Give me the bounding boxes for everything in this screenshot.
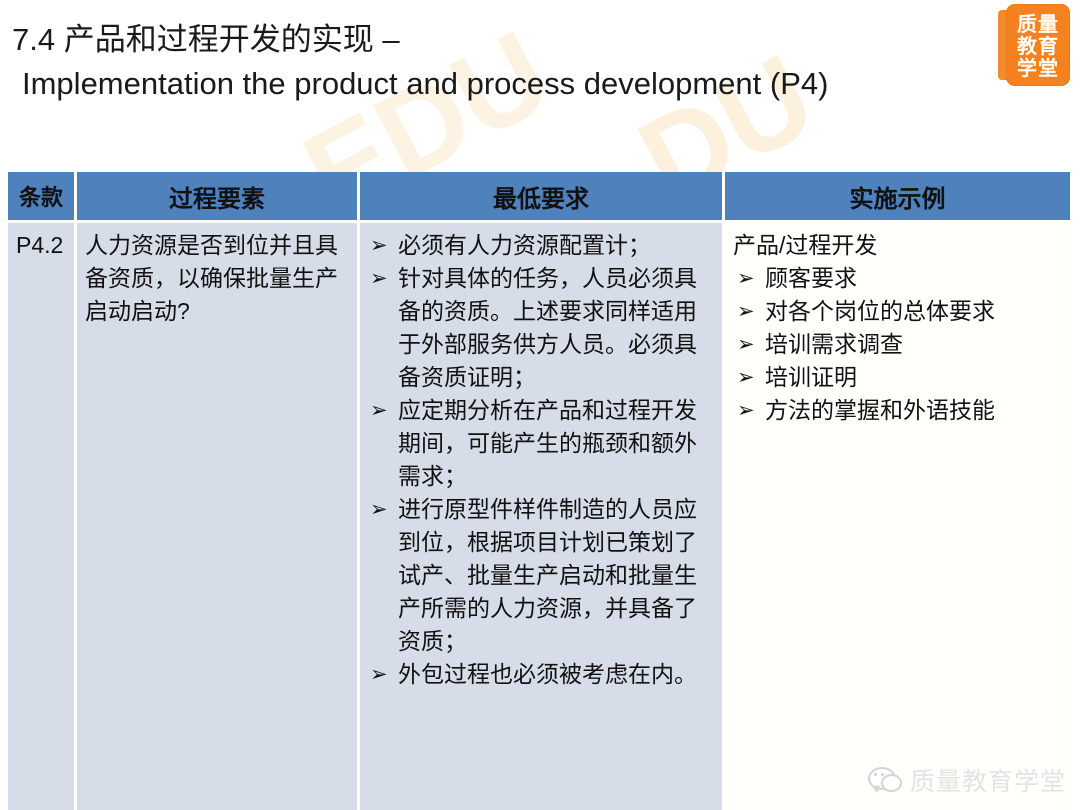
list-item: ➢ 培训需求调查 xyxy=(733,328,1064,361)
arrow-bullet-icon: ➢ xyxy=(370,493,392,526)
arrow-bullet-icon: ➢ xyxy=(737,328,759,361)
list-item: ➢ 必须有人力资源配置计； xyxy=(368,229,716,262)
footer-account-mark: 质量教育学堂 xyxy=(868,762,1066,798)
table-header-row: 条款 过程要素 最低要求 实施示例 xyxy=(8,172,1070,223)
list-item: ➢ 进行原型件样件制造的人员应到位，根据项目计划已策划了试产、批量生产启动和批量… xyxy=(368,493,716,658)
list-item: ➢ 应定期分析在产品和过程开发期间，可能产生的瓶颈和额外需求； xyxy=(368,394,716,493)
list-item-label: 培训需求调查 xyxy=(765,328,1064,361)
list-item-label: 针对具体的任务，人员必须具备的资质。上述要求同样适用于外部服务供方人员。必须具备… xyxy=(398,262,716,394)
table-row: P4.2 人力资源是否到位并且具备资质，以确保批量生产启动启动? ➢ 必须有人力… xyxy=(8,223,1070,810)
footer-account-name: 质量教育学堂 xyxy=(910,762,1066,798)
list-item-label: 必须有人力资源配置计； xyxy=(398,229,716,262)
list-item-label: 外包过程也必须被考虑在内。 xyxy=(398,658,716,691)
table-header-element: 过程要素 xyxy=(77,172,360,223)
list-item-label: 应定期分析在产品和过程开发期间，可能产生的瓶颈和额外需求； xyxy=(398,394,716,493)
arrow-bullet-icon: ➢ xyxy=(737,394,759,427)
page-title-line-1: 7.4 产品和过程开发的实现 – xyxy=(12,18,1068,62)
list-item-label: 培训证明 xyxy=(765,361,1064,394)
implementation-examples-list: ➢ 顾客要求 ➢ 对各个岗位的总体要求 ➢ 培训需求调查 ➢ xyxy=(733,262,1064,427)
list-item: ➢ 方法的掌握和外语技能 xyxy=(733,394,1064,427)
list-item-label: 方法的掌握和外语技能 xyxy=(765,394,1064,427)
arrow-bullet-icon: ➢ xyxy=(370,262,392,295)
table-header-clause: 条款 xyxy=(8,172,77,223)
example-heading: 产品/过程开发 xyxy=(733,229,1064,262)
arrow-bullet-icon: ➢ xyxy=(737,361,759,394)
slide-canvas: EDU DU ty-EDU ty-EDU 7.4 产品和过程开发的实现 – Im… xyxy=(0,0,1080,810)
wechat-icon xyxy=(868,766,902,794)
list-item: ➢ 培训证明 xyxy=(733,361,1064,394)
cell-process-element: 人力资源是否到位并且具备资质，以确保批量生产启动启动? xyxy=(77,223,360,810)
wechat-bubble-small xyxy=(881,774,902,792)
arrow-bullet-icon: ➢ xyxy=(737,262,759,295)
page-title: 7.4 产品和过程开发的实现 – Implementation the prod… xyxy=(12,18,1068,106)
list-item: ➢ 对各个岗位的总体要求 xyxy=(733,295,1064,328)
requirements-table: 条款 过程要素 最低要求 实施示例 P4.2 人力资源是否到位并且具备资质，以确… xyxy=(8,172,1070,810)
list-item: ➢ 针对具体的任务，人员必须具备的资质。上述要求同样适用于外部服务供方人员。必须… xyxy=(368,262,716,394)
arrow-bullet-icon: ➢ xyxy=(370,229,392,262)
wechat-dot-1 xyxy=(874,773,877,776)
list-item-label: 进行原型件样件制造的人员应到位，根据项目计划已策划了试产、批量生产启动和批量生产… xyxy=(398,493,716,658)
table-header-minimum: 最低要求 xyxy=(360,172,725,223)
cell-minimum-requirements: ➢ 必须有人力资源配置计； ➢ 针对具体的任务，人员必须具备的资质。上述要求同样… xyxy=(360,223,725,810)
list-item-label: 顾客要求 xyxy=(765,262,1064,295)
minimum-requirements-list: ➢ 必须有人力资源配置计； ➢ 针对具体的任务，人员必须具备的资质。上述要求同样… xyxy=(368,229,716,691)
arrow-bullet-icon: ➢ xyxy=(370,658,392,691)
cell-implementation-examples: 产品/过程开发 ➢ 顾客要求 ➢ 对各个岗位的总体要求 ➢ 培训需求调查 xyxy=(725,223,1070,810)
list-item-label: 对各个岗位的总体要求 xyxy=(765,295,1064,328)
cell-clause: P4.2 xyxy=(8,223,77,810)
arrow-bullet-icon: ➢ xyxy=(370,394,392,427)
list-item: ➢ 顾客要求 xyxy=(733,262,1064,295)
arrow-bullet-icon: ➢ xyxy=(737,295,759,328)
list-item: ➢ 外包过程也必须被考虑在内。 xyxy=(368,658,716,691)
page-title-line-2: Implementation the product and process d… xyxy=(12,62,1068,106)
table-header-example: 实施示例 xyxy=(725,172,1070,223)
